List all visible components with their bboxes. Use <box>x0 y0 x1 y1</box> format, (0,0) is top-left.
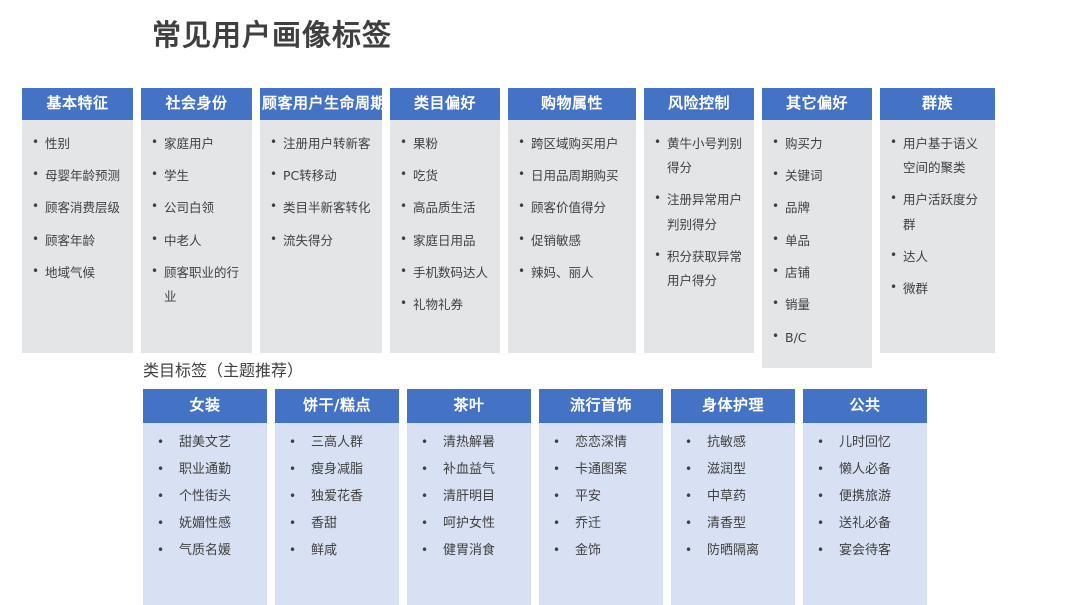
tag-list: 注册用户转新客 PC转移动 类目半新客转化 流失得分 <box>266 132 376 254</box>
list-item: 清热解暑 <box>411 433 527 453</box>
tag-list: 果粉 吃货 高品质生活 家庭日用品 手机数码达人 礼物礼券 <box>396 132 494 318</box>
list-item: 注册异常用户判别得分 <box>650 188 748 237</box>
list-item: 平安 <box>543 487 659 507</box>
list-item: 乔迁 <box>543 514 659 534</box>
list-item: 家庭日用品 <box>396 229 494 253</box>
list-item: 中草药 <box>675 487 791 507</box>
list-item: 顾客年龄 <box>28 229 127 253</box>
tag-list: 儿时回忆 懒人必备 便携旅游 送礼必备 宴会待客 <box>807 433 923 562</box>
list-item: 母婴年龄预测 <box>28 164 127 188</box>
list-item: 顾客职业的行业 <box>147 261 246 310</box>
card-header: 类目偏好 <box>390 88 500 120</box>
list-item: 恋恋深情 <box>543 433 659 453</box>
card-biscuits-pastry: 饼干/糕点 三高人群 瘦身减脂 独爱花香 香甜 鲜咸 <box>275 389 399 605</box>
page-title: 常见用户画像标签 <box>152 18 392 53</box>
card-body-care: 身体护理 抗敏感 滋润型 中草药 清香型 防晒隔离 <box>671 389 795 605</box>
list-item: 抗敏感 <box>675 433 791 453</box>
tag-list: 家庭用户 学生 公司白领 中老人 顾客职业的行业 <box>147 132 246 310</box>
list-item: 清肝明目 <box>411 487 527 507</box>
tag-list: 购买力 关键词 品牌 单品 店铺 销量 B/C <box>768 132 866 351</box>
tag-list: 用户基于语义空间的聚类 用户活跃度分群 达人 微群 <box>886 132 989 302</box>
list-item: 果粉 <box>396 132 494 156</box>
list-item: 单品 <box>768 229 866 253</box>
list-item: 中老人 <box>147 229 246 253</box>
tag-list: 清热解暑 补血益气 清肝明目 呵护女性 健胃消食 <box>411 433 527 562</box>
list-item: 日用品周期购买 <box>514 164 630 188</box>
card-body: 儿时回忆 懒人必备 便携旅游 送礼必备 宴会待客 <box>803 423 927 605</box>
tag-list: 恋恋深情 卡通图案 平安 乔迁 金饰 <box>543 433 659 562</box>
tag-list: 甜美文艺 职业通勤 个性街头 妩媚性感 气质名媛 <box>147 433 263 562</box>
list-item: 送礼必备 <box>807 514 923 534</box>
card-social-identity: 社会身份 家庭用户 学生 公司白领 中老人 顾客职业的行业 <box>141 88 252 353</box>
list-item: 儿时回忆 <box>807 433 923 453</box>
list-item: 类目半新客转化 <box>266 196 376 220</box>
top-card-row: 基本特征 性别 母婴年龄预测 顾客消费层级 顾客年龄 地域气候 社会身份 家庭用… <box>22 88 1058 353</box>
list-item: 手机数码达人 <box>396 261 494 285</box>
card-body: 购买力 关键词 品牌 单品 店铺 销量 B/C <box>762 120 872 369</box>
list-item: 甜美文艺 <box>147 433 263 453</box>
card-body: 三高人群 瘦身减脂 独爱花香 香甜 鲜咸 <box>275 423 399 605</box>
card-public: 公共 儿时回忆 懒人必备 便携旅游 送礼必备 宴会待客 <box>803 389 927 605</box>
section-subtitle: 类目标签（主题推荐） <box>143 357 303 381</box>
card-header: 群族 <box>880 88 995 120</box>
list-item: 懒人必备 <box>807 460 923 480</box>
card-header: 身体护理 <box>671 389 795 423</box>
card-header: 购物属性 <box>508 88 636 120</box>
card-tea: 茶叶 清热解暑 补血益气 清肝明目 呵护女性 健胃消食 <box>407 389 531 605</box>
card-shopping-attributes: 购物属性 跨区域购买用户 日用品周期购买 顾客价值得分 促销敏感 辣妈、丽人 <box>508 88 636 353</box>
card-body: 抗敏感 滋润型 中草药 清香型 防晒隔离 <box>671 423 795 605</box>
card-body: 清热解暑 补血益气 清肝明目 呵护女性 健胃消食 <box>407 423 531 605</box>
card-body: 性别 母婴年龄预测 顾客消费层级 顾客年龄 地域气候 <box>22 120 133 354</box>
list-item: 气质名媛 <box>147 541 263 561</box>
list-item: 用户基于语义空间的聚类 <box>886 132 989 181</box>
card-body: 黄牛小号判别得分 注册异常用户判别得分 积分获取异常用户得分 <box>644 120 754 354</box>
list-item: 销量 <box>768 293 866 317</box>
card-body: 注册用户转新客 PC转移动 类目半新客转化 流失得分 <box>260 120 382 354</box>
list-item: 辣妈、丽人 <box>514 261 630 285</box>
list-item: 瘦身减脂 <box>279 460 395 480</box>
list-item: 购买力 <box>768 132 866 156</box>
card-header: 风险控制 <box>644 88 754 120</box>
list-item: 跨区域购买用户 <box>514 132 630 156</box>
card-risk-control: 风险控制 黄牛小号判别得分 注册异常用户判别得分 积分获取异常用户得分 <box>644 88 754 353</box>
card-header: 社会身份 <box>141 88 252 120</box>
card-header: 顾客用户生命周期 <box>260 88 382 120</box>
list-item: B/C <box>768 326 866 350</box>
list-item: 顾客价值得分 <box>514 196 630 220</box>
list-item: 职业通勤 <box>147 460 263 480</box>
list-item: 便携旅游 <box>807 487 923 507</box>
list-item: 性别 <box>28 132 127 156</box>
card-customer-lifecycle: 顾客用户生命周期 注册用户转新客 PC转移动 类目半新客转化 流失得分 <box>260 88 382 353</box>
card-body: 甜美文艺 职业通勤 个性街头 妩媚性感 气质名媛 <box>143 423 267 605</box>
tag-list: 三高人群 瘦身减脂 独爱花香 香甜 鲜咸 <box>279 433 395 562</box>
list-item: 店铺 <box>768 261 866 285</box>
list-item: 礼物礼券 <box>396 293 494 317</box>
card-header: 基本特征 <box>22 88 133 120</box>
list-item: 吃货 <box>396 164 494 188</box>
list-item: 达人 <box>886 245 989 269</box>
card-header: 女装 <box>143 389 267 423</box>
tag-list: 黄牛小号判别得分 注册异常用户判别得分 积分获取异常用户得分 <box>650 132 748 294</box>
tag-list: 性别 母婴年龄预测 顾客消费层级 顾客年龄 地域气候 <box>28 132 127 286</box>
list-item: 注册用户转新客 <box>266 132 376 156</box>
card-cluster-group: 群族 用户基于语义空间的聚类 用户活跃度分群 达人 微群 <box>880 88 995 353</box>
list-item: 促销敏感 <box>514 229 630 253</box>
card-body: 果粉 吃货 高品质生活 家庭日用品 手机数码达人 礼物礼券 <box>390 120 500 354</box>
list-item: 滋润型 <box>675 460 791 480</box>
list-item: 黄牛小号判别得分 <box>650 132 748 181</box>
list-item: 金饰 <box>543 541 659 561</box>
card-womens-clothing: 女装 甜美文艺 职业通勤 个性街头 妩媚性感 气质名媛 <box>143 389 267 605</box>
list-item: 鲜咸 <box>279 541 395 561</box>
card-header: 公共 <box>803 389 927 423</box>
list-item: 积分获取异常用户得分 <box>650 245 748 294</box>
card-body: 用户基于语义空间的聚类 用户活跃度分群 达人 微群 <box>880 120 995 354</box>
bottom-card-row: 女装 甜美文艺 职业通勤 个性街头 妩媚性感 气质名媛 饼干/糕点 三高人群 瘦… <box>143 389 936 605</box>
card-body: 家庭用户 学生 公司白领 中老人 顾客职业的行业 <box>141 120 252 354</box>
list-item: 独爱花香 <box>279 487 395 507</box>
list-item: 公司白领 <box>147 196 246 220</box>
list-item: 妩媚性感 <box>147 514 263 534</box>
list-item: 微群 <box>886 277 989 301</box>
card-header: 茶叶 <box>407 389 531 423</box>
list-item: 流失得分 <box>266 229 376 253</box>
list-item: 地域气候 <box>28 261 127 285</box>
list-item: 呵护女性 <box>411 514 527 534</box>
list-item: 卡通图案 <box>543 460 659 480</box>
card-fashion-jewelry: 流行首饰 恋恋深情 卡通图案 平安 乔迁 金饰 <box>539 389 663 605</box>
card-header: 其它偏好 <box>762 88 872 120</box>
card-body: 跨区域购买用户 日用品周期购买 顾客价值得分 促销敏感 辣妈、丽人 <box>508 120 636 354</box>
list-item: 家庭用户 <box>147 132 246 156</box>
list-item: 健胃消食 <box>411 541 527 561</box>
card-category-preference: 类目偏好 果粉 吃货 高品质生活 家庭日用品 手机数码达人 礼物礼券 <box>390 88 500 353</box>
card-header: 饼干/糕点 <box>275 389 399 423</box>
card-basic-traits: 基本特征 性别 母婴年龄预测 顾客消费层级 顾客年龄 地域气候 <box>22 88 133 353</box>
tag-list: 跨区域购买用户 日用品周期购买 顾客价值得分 促销敏感 辣妈、丽人 <box>514 132 630 286</box>
list-item: 三高人群 <box>279 433 395 453</box>
list-item: 品牌 <box>768 196 866 220</box>
list-item: 补血益气 <box>411 460 527 480</box>
list-item: 顾客消费层级 <box>28 196 127 220</box>
card-body: 恋恋深情 卡通图案 平安 乔迁 金饰 <box>539 423 663 605</box>
list-item: 高品质生活 <box>396 196 494 220</box>
list-item: 清香型 <box>675 514 791 534</box>
tag-list: 抗敏感 滋润型 中草药 清香型 防晒隔离 <box>675 433 791 562</box>
list-item: 个性街头 <box>147 487 263 507</box>
list-item: 用户活跃度分群 <box>886 188 989 237</box>
list-item: 防晒隔离 <box>675 541 791 561</box>
list-item: PC转移动 <box>266 164 376 188</box>
list-item: 香甜 <box>279 514 395 534</box>
card-header: 流行首饰 <box>539 389 663 423</box>
card-other-preference: 其它偏好 购买力 关键词 品牌 单品 店铺 销量 B/C <box>762 88 872 353</box>
list-item: 宴会待客 <box>807 541 923 561</box>
list-item: 学生 <box>147 164 246 188</box>
list-item: 关键词 <box>768 164 866 188</box>
